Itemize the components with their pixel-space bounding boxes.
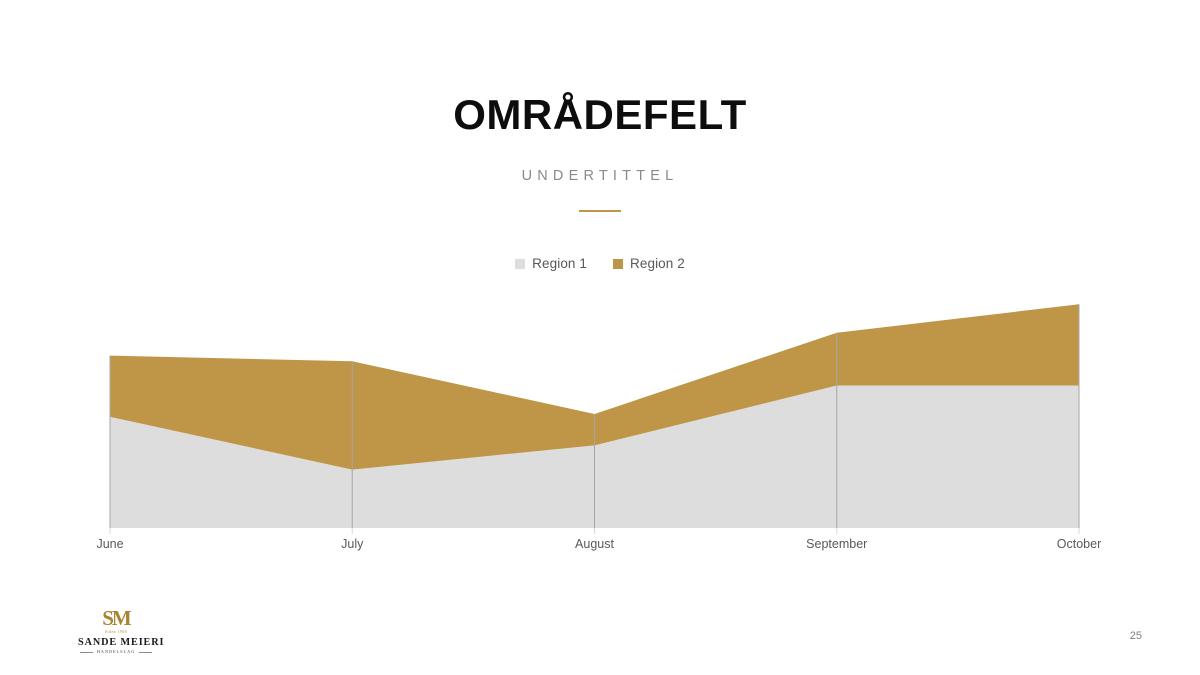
x-axis-label: June [96,537,123,551]
area-series-region-1 [110,386,1079,529]
page-subtitle: UNDERTITTEL [0,138,1200,184]
legend-label: Region 2 [630,256,685,271]
logo-rule-left [80,652,93,653]
page-number: 25 [1130,630,1142,642]
title-divider [579,210,621,212]
chart-x-axis: JuneJulyAugustSeptemberOctober [0,537,1200,557]
logo-rule-right [139,652,152,653]
chart-legend: Region 1 Region 2 [0,256,1200,271]
logo-tagline-wrap: HANDELSLAG [78,648,154,655]
brand-logo: SM Siden 1908 SANDE MEIERI HANDELSLAG [78,608,154,655]
chart-series-region-2 [110,304,1079,469]
legend-item-region-2[interactable]: Region 2 [613,256,685,271]
page-title: OMRÅDEFELT [0,92,1200,138]
x-axis-label: August [575,537,614,551]
chart-gridlines [110,304,1079,528]
legend-swatch-icon [613,259,623,269]
x-axis-label: October [1057,537,1101,551]
area-series-region-2 [110,304,1079,469]
title-divider-wrap [0,184,1200,212]
chart-axis-ticks [110,528,1079,534]
chart-series-region-1 [110,386,1079,529]
x-axis-label: September [806,537,867,551]
legend-swatch-icon [515,259,525,269]
logo-monogram-icon: SM [78,608,154,629]
logo-tagline: HANDELSLAG [97,650,136,654]
legend-label: Region 1 [532,256,587,271]
x-axis-label: July [341,537,363,551]
slide-header: OMRÅDEFELT UNDERTITTEL [0,92,1200,212]
logo-name: SANDE MEIERI [78,635,154,648]
legend-item-region-1[interactable]: Region 1 [515,256,587,271]
slide: OMRÅDEFELT UNDERTITTEL Region 1 Region 2 [0,0,1200,675]
